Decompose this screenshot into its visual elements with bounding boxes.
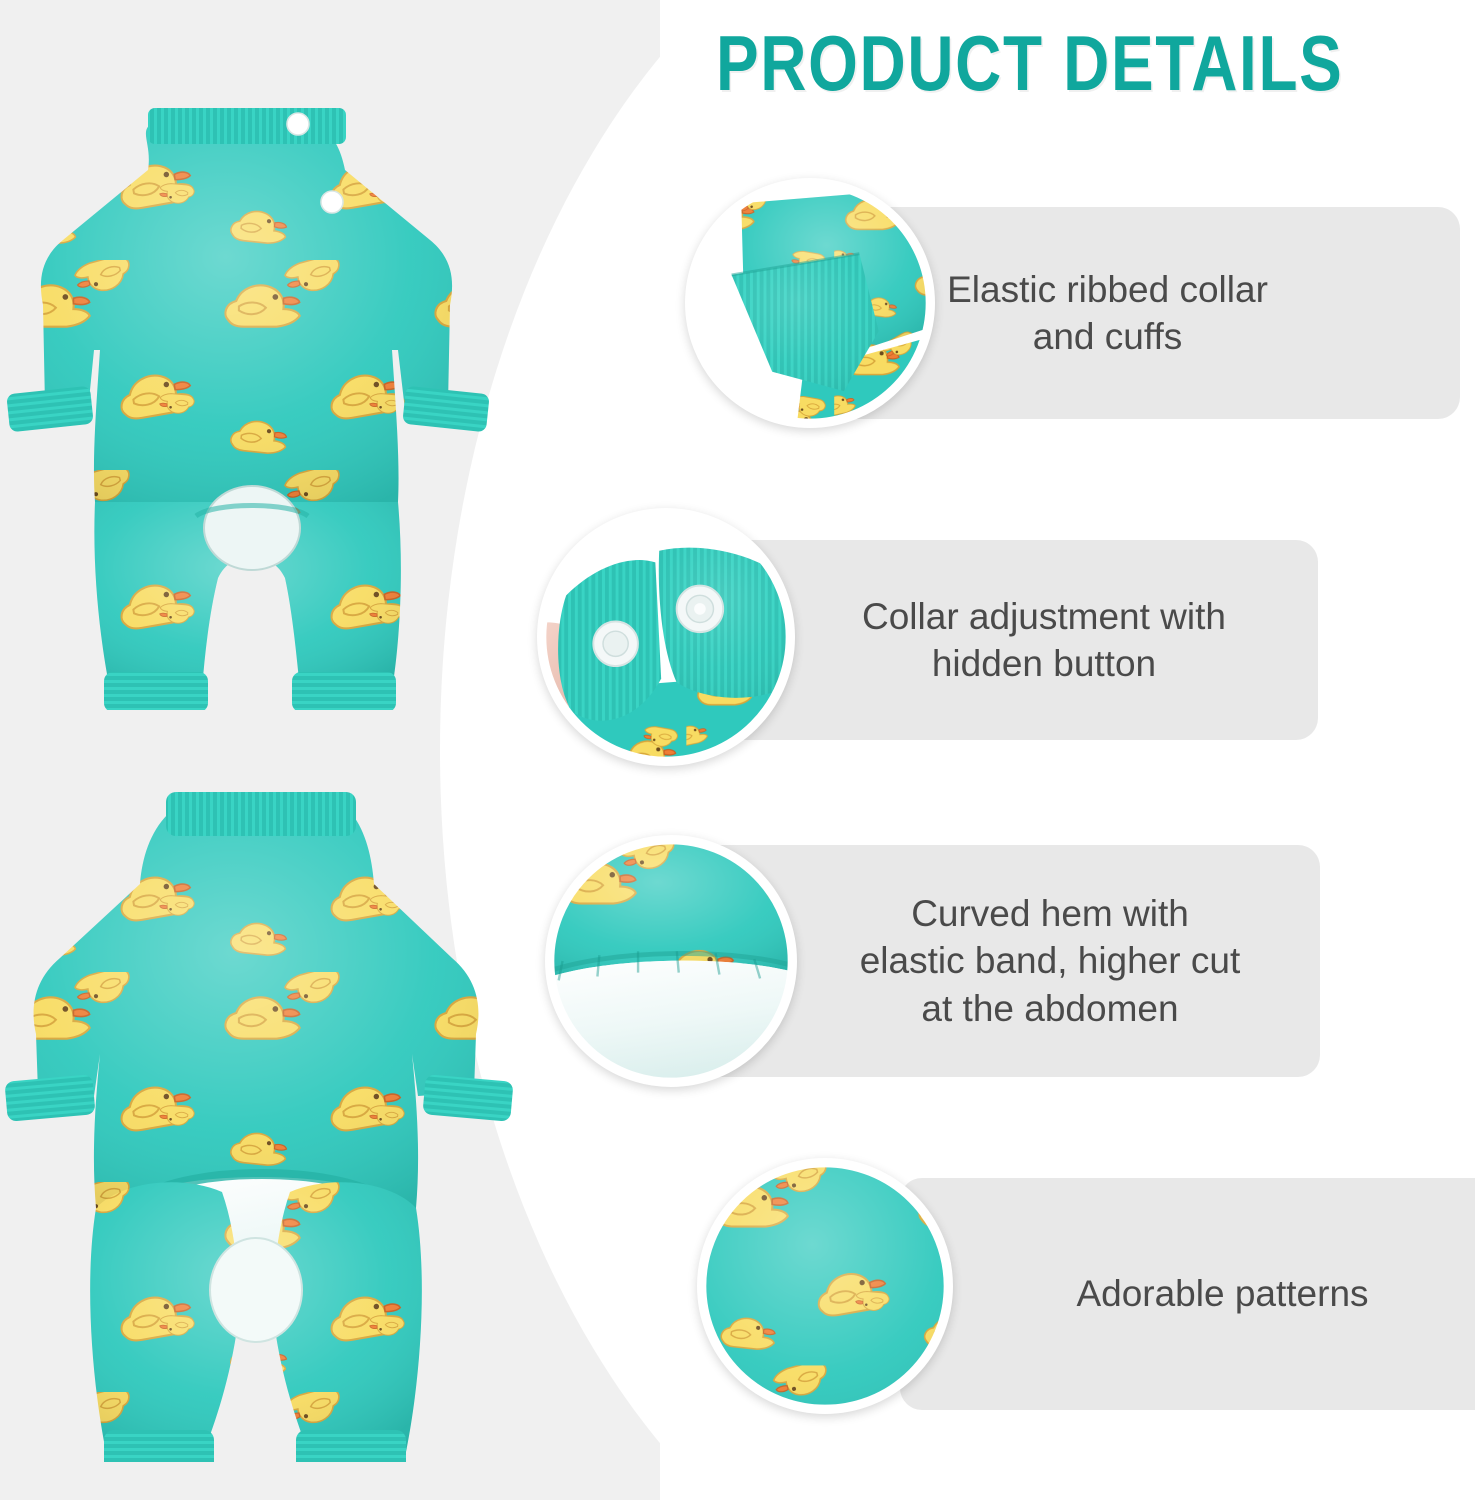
product-details-infographic: PRODUCT DETAILS bbox=[0, 0, 1475, 1500]
snap-button-left bbox=[593, 621, 638, 666]
feature-label-line: at the abdomen bbox=[860, 985, 1241, 1032]
feature-label-line: and cuffs bbox=[947, 313, 1268, 360]
snap-button-placket bbox=[321, 191, 343, 213]
feature-label-line: hidden button bbox=[862, 640, 1226, 687]
snap-button-collar bbox=[287, 113, 309, 135]
feature-label-line: Curved hem with bbox=[860, 890, 1241, 937]
hidden-button-closeup-photo bbox=[537, 508, 795, 766]
feature-label-line: Elastic ribbed collar bbox=[947, 266, 1268, 313]
curved-hem-closeup-illustration bbox=[549, 839, 793, 1083]
pet-pajama-back-illustration bbox=[0, 762, 520, 1462]
feature-label-line: elastic band, higher cut bbox=[860, 937, 1241, 984]
pet-pajama-front-illustration bbox=[0, 50, 500, 710]
curved-hem-closeup-photo bbox=[545, 835, 797, 1087]
cuff-closeup-illustration bbox=[689, 182, 931, 424]
product-photo-front-view bbox=[0, 50, 500, 710]
duck-pattern-closeup-illustration bbox=[701, 1162, 949, 1410]
product-photo-back-view bbox=[0, 762, 520, 1462]
feature-label-line: Adorable patterns bbox=[1076, 1270, 1368, 1317]
page-title: PRODUCT DETAILS bbox=[716, 18, 1343, 109]
duck-pattern-closeup-photo bbox=[697, 1158, 953, 1414]
hidden-button-closeup-illustration bbox=[541, 512, 791, 762]
feature-label-box-4: Adorable patterns bbox=[900, 1178, 1475, 1410]
snap-button-right bbox=[677, 586, 724, 633]
cuff-closeup-photo bbox=[685, 178, 935, 428]
feature-label-line: Collar adjustment with bbox=[862, 593, 1226, 640]
